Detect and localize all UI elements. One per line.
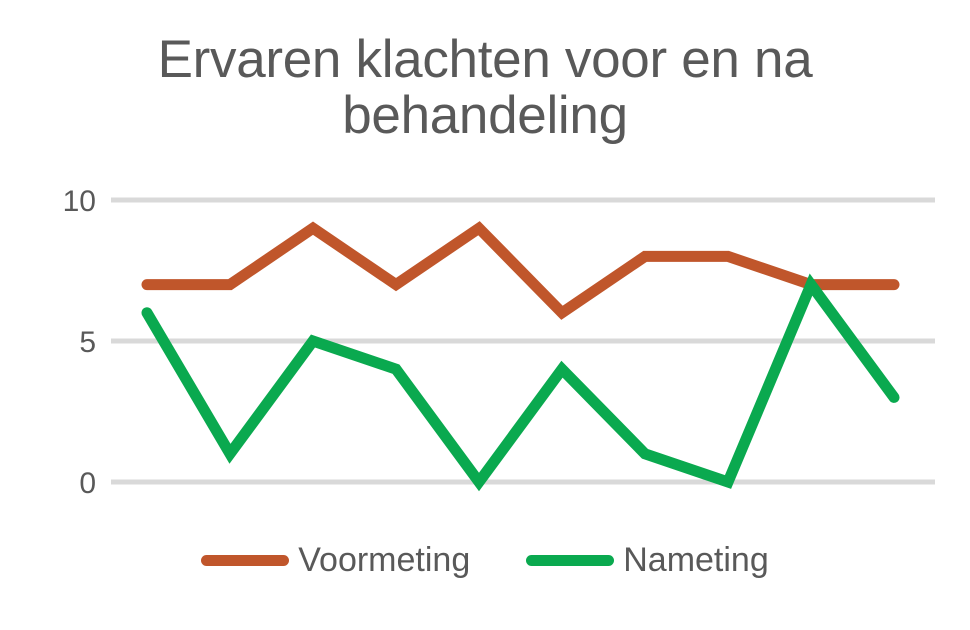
chart-legend: Voormeting Nameting	[0, 543, 970, 577]
legend-swatch-voormeting	[201, 555, 289, 566]
series-line-voormeting	[147, 228, 894, 313]
series-lines	[147, 228, 894, 482]
line-chart: Ervaren klachten voor en na behandeling …	[0, 0, 970, 630]
series-line-nameting	[147, 285, 894, 482]
legend-label-voormeting: Voormeting	[298, 543, 470, 577]
legend-label-nameting: Nameting	[623, 543, 769, 577]
legend-item-voormeting[interactable]: Voormeting	[201, 543, 470, 577]
plot-area	[0, 0, 970, 630]
legend-swatch-nameting	[526, 555, 614, 566]
legend-item-nameting[interactable]: Nameting	[526, 543, 769, 577]
